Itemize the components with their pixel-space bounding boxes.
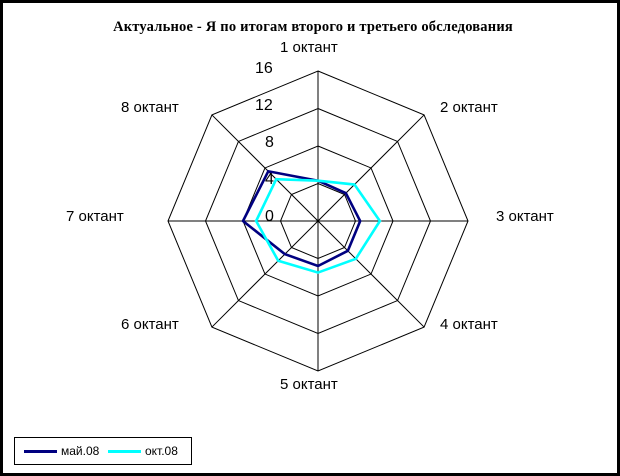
legend-swatch-icon-0 — [24, 450, 57, 453]
legend-item-1[interactable]: окт.08 — [108, 438, 178, 464]
chart-legend: май.08окт.08 — [14, 437, 192, 465]
octant-label-7: 7 октант — [66, 208, 124, 225]
legend-item-0[interactable]: май.08 — [24, 438, 99, 464]
legend-label-1: окт.08 — [145, 444, 178, 458]
legend-swatch-icon-1 — [108, 450, 141, 453]
chart-window: Актуальное - Я по итогам второго и треть… — [0, 0, 620, 476]
radial-tick-12: 12 — [255, 97, 273, 115]
octant-label-1: 1 октант — [280, 39, 338, 56]
legend-label-0: май.08 — [61, 444, 99, 458]
radar-plot-area: 1 октант2 октант3 октант4 октант5 октант… — [3, 3, 620, 413]
octant-label-2: 2 октант — [440, 99, 498, 116]
octant-label-3: 3 октант — [496, 208, 554, 225]
octant-label-4: 4 октант — [440, 316, 498, 333]
octant-label-8: 8 октант — [121, 99, 179, 116]
octant-label-5: 5 октант — [280, 376, 338, 393]
radial-tick-8: 8 — [265, 134, 274, 152]
octant-label-6: 6 октант — [121, 316, 179, 333]
radial-tick-4: 4 — [265, 171, 274, 189]
radial-tick-0: 0 — [265, 208, 274, 226]
radar-grid-spokes — [168, 71, 468, 371]
radial-tick-16: 16 — [255, 60, 273, 78]
